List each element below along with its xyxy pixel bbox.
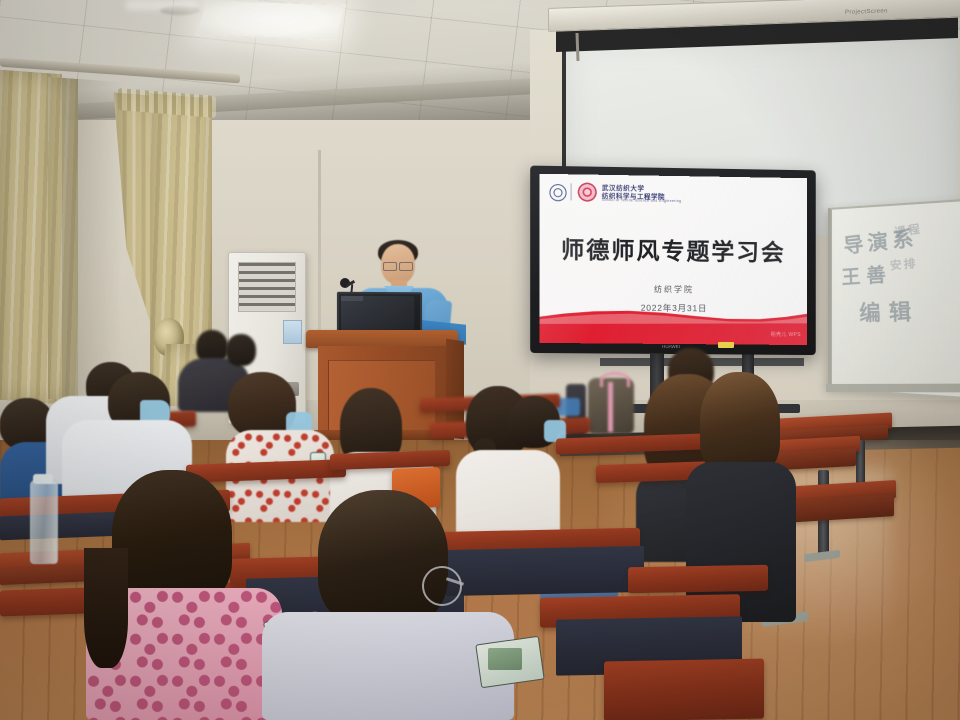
water-bottle-cap xyxy=(33,474,53,484)
water-bottle[interactable] xyxy=(30,480,58,564)
phone-screen-content xyxy=(488,648,522,670)
audience-torso xyxy=(262,612,514,720)
bench-cushion xyxy=(446,546,644,596)
whiteboard-note-4: 课程 xyxy=(893,220,922,241)
bench-front-edge xyxy=(604,659,764,720)
curtain-shadow xyxy=(62,78,122,402)
audience-head xyxy=(226,334,256,366)
audience-head xyxy=(112,470,232,606)
air-conditioner-label xyxy=(283,320,302,344)
podium-monitor-brand xyxy=(341,296,363,301)
led-panel-light-glow xyxy=(126,0,196,10)
whiteboard-marker-tray xyxy=(826,384,960,393)
whiteboard-note-3: 编辑 xyxy=(859,295,921,328)
bench-front-far-right xyxy=(628,565,768,593)
air-conditioner-louvers-icon xyxy=(238,262,296,312)
university-seal-icon xyxy=(549,184,566,201)
logo-divider xyxy=(571,183,572,200)
hair-strand xyxy=(84,548,128,668)
lecture-hall-photo: ProjectScreen 导演系 王善 编辑 课程 安排 武汉纺织大学 纺织科… xyxy=(0,0,960,720)
presentation-slide: 武汉纺织大学 纺织科学与工程学院 School of Textile Scien… xyxy=(539,174,807,345)
slide-title: 师德师风专题学习会 xyxy=(539,230,807,267)
display-warning-sticker xyxy=(718,342,734,348)
backpack-strap xyxy=(608,382,613,432)
whiteboard[interactable]: 导演系 王善 编辑 课程 安排 xyxy=(828,198,960,399)
whiteboard-note-2: 王善 xyxy=(841,259,893,290)
presenter-glasses-left-lens-icon xyxy=(383,262,397,271)
whiteboard-note-5: 安排 xyxy=(889,254,918,273)
slide-logo-line3: School of Textile Science and Engineerin… xyxy=(602,198,682,203)
backpack-pink-strap xyxy=(600,372,630,387)
audience-head xyxy=(318,490,448,628)
presenter-glasses-right-lens-icon xyxy=(399,262,413,271)
slide-subtitle: 纺织学院 xyxy=(539,283,807,297)
display-brand-label: HUAWEI xyxy=(660,344,682,349)
textile-academy-emblem-icon xyxy=(578,182,597,201)
audience-head xyxy=(700,372,780,476)
podium-monitor-screen xyxy=(341,296,414,334)
slide-watermark: 稻壳儿 WPS xyxy=(771,331,801,338)
led-panel-light xyxy=(196,0,347,40)
